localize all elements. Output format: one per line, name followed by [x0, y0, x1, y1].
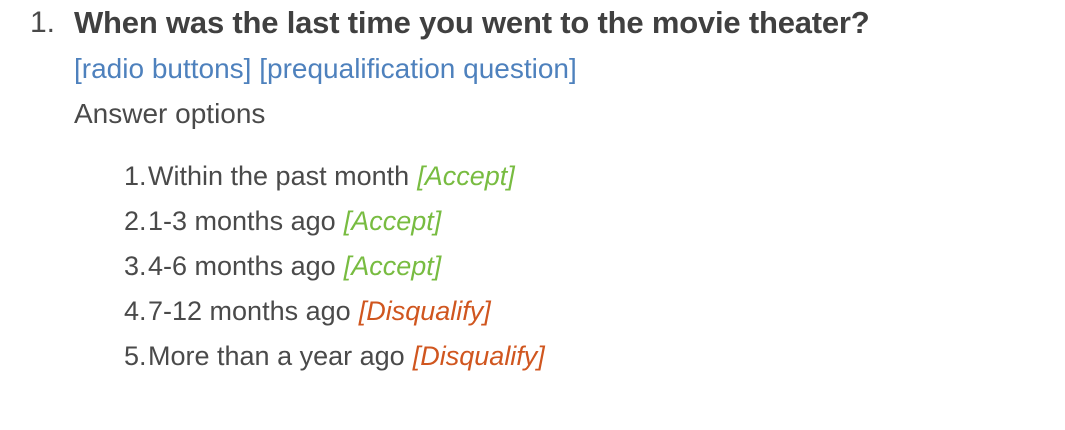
option-label: 7-12 months ago [148, 296, 351, 326]
question-block: 1. When was the last time you went to th… [0, 0, 1065, 379]
option-label: Within the past month [148, 161, 409, 191]
list-item: 4. 7-12 months ago[Disqualify] [74, 289, 1065, 334]
option-number: 4. [74, 289, 148, 334]
list-item: 1. Within the past month[Accept] [74, 154, 1065, 199]
option-text: Within the past month[Accept] [148, 154, 515, 199]
answer-options-list: 1. Within the past month[Accept] 2. 1-3 … [74, 154, 1065, 379]
question-body: When was the last time you went to the m… [74, 0, 1065, 379]
slide-canvas: 1. When was the last time you went to th… [0, 0, 1065, 430]
option-label: 4-6 months ago [148, 251, 336, 281]
answer-options-label: Answer options [74, 91, 1065, 136]
option-tag-accept: [Accept] [344, 251, 442, 281]
option-tag-accept: [Accept] [417, 161, 515, 191]
option-tag-disqualify: [Disqualify] [359, 296, 491, 326]
question-title: When was the last time you went to the m… [74, 0, 1065, 46]
question-number: 1. [0, 0, 74, 46]
option-number: 3. [74, 244, 148, 289]
option-tag-accept: [Accept] [344, 206, 442, 236]
option-number: 5. [74, 334, 148, 379]
option-label: More than a year ago [148, 341, 405, 371]
option-number: 1. [74, 154, 148, 199]
option-text: 4-6 months ago[Accept] [148, 244, 441, 289]
option-text: 1-3 months ago[Accept] [148, 199, 441, 244]
list-item: 2. 1-3 months ago[Accept] [74, 199, 1065, 244]
question-meta-tags: [radio buttons] [prequalification questi… [74, 46, 1065, 91]
list-item: 5. More than a year ago[Disqualify] [74, 334, 1065, 379]
option-label: 1-3 months ago [148, 206, 336, 236]
option-text: 7-12 months ago[Disqualify] [148, 289, 491, 334]
question-row: 1. When was the last time you went to th… [0, 0, 1065, 379]
list-item: 3. 4-6 months ago[Accept] [74, 244, 1065, 289]
option-number: 2. [74, 199, 148, 244]
option-tag-disqualify: [Disqualify] [413, 341, 545, 371]
option-text: More than a year ago[Disqualify] [148, 334, 545, 379]
